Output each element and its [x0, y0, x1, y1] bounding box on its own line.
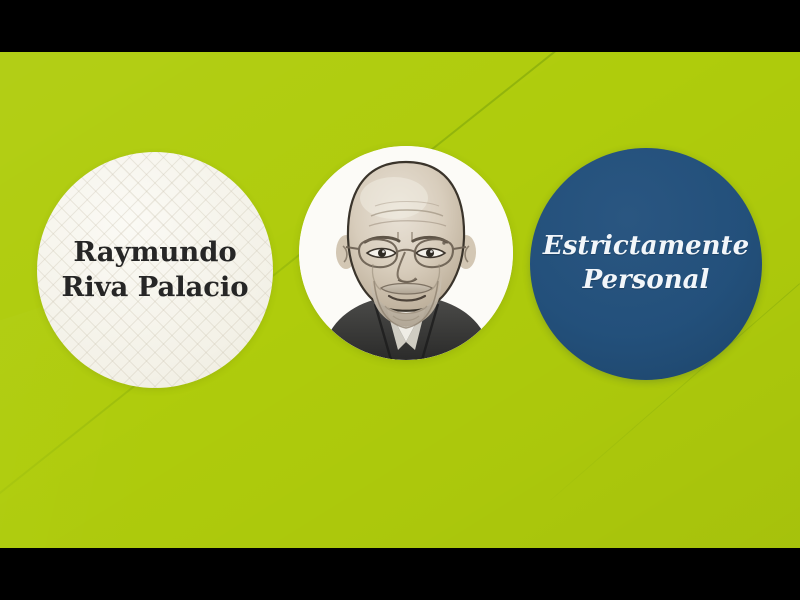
letterbox-top — [0, 0, 800, 52]
author-portrait — [299, 146, 513, 360]
column-title-text: Estrictamente Personal — [535, 230, 757, 298]
author-name-text: Raymundo Riva Palacio — [55, 235, 254, 304]
author-name-badge: Raymundo Riva Palacio — [37, 152, 273, 388]
banner-image: Raymundo Riva Palacio — [0, 0, 800, 600]
letterbox-bottom — [0, 548, 800, 600]
author-portrait-illustration — [299, 146, 513, 360]
banner-canvas: Raymundo Riva Palacio — [0, 52, 800, 548]
column-title-badge: Estrictamente Personal — [530, 148, 762, 380]
